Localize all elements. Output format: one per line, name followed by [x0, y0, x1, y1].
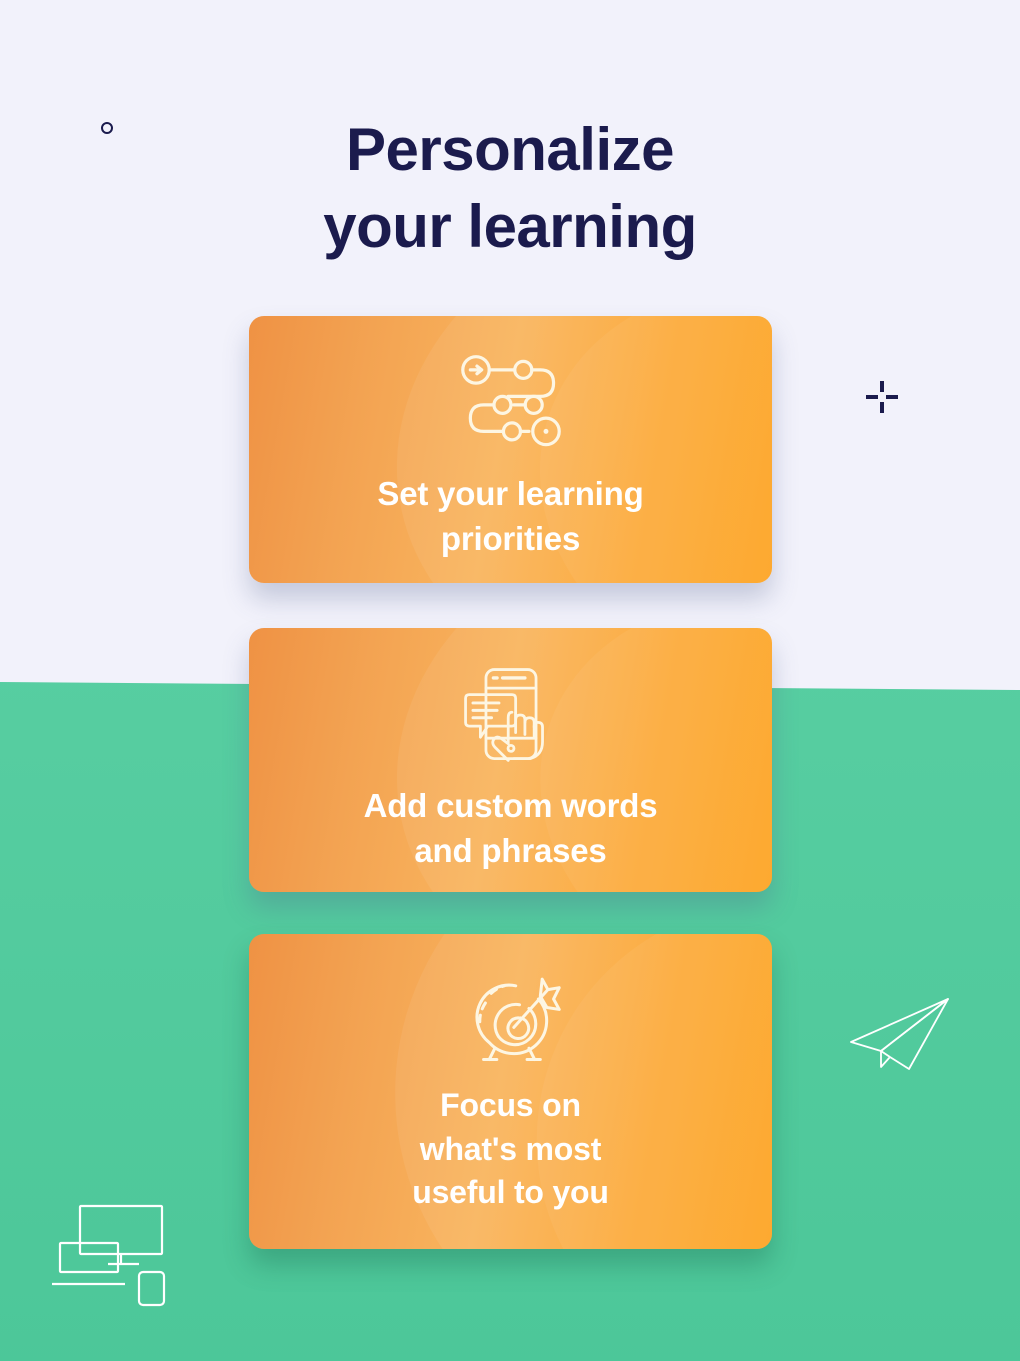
- crosshair-plus-mark: [866, 381, 898, 413]
- phone-tap-message-icon: [452, 660, 570, 770]
- paper-plane-illustration: [845, 995, 955, 1075]
- target-arrow-icon: [452, 962, 570, 1072]
- page-title-line-1: Personalize: [0, 112, 1020, 189]
- card-title-line-1: Focus on: [412, 1084, 609, 1128]
- card-title-line-2: and phrases: [364, 829, 658, 874]
- card-title-line-2: priorities: [377, 517, 643, 562]
- card-title-line-3: useful to you: [412, 1171, 609, 1215]
- onboarding-screen: Personalize your learning: [0, 0, 1020, 1361]
- card-title-line-1: Set your learning: [377, 472, 643, 517]
- learning-path-icon: [452, 348, 570, 458]
- card-title-line-1: Add custom words: [364, 784, 658, 829]
- multi-device-illustration: [47, 1192, 192, 1332]
- feature-card-focus[interactable]: Focus on what's most useful to you: [249, 934, 772, 1249]
- feature-card-custom-words[interactable]: Add custom words and phrases: [249, 628, 772, 892]
- card-title-line-2: what's most: [412, 1128, 609, 1172]
- feature-card-set-priorities[interactable]: Set your learning priorities: [249, 316, 772, 583]
- feature-card-title: Add custom words and phrases: [338, 784, 684, 874]
- feature-card-title: Focus on what's most useful to you: [386, 1084, 635, 1215]
- page-title-line-2: your learning: [0, 189, 1020, 266]
- feature-card-title: Set your learning priorities: [351, 472, 669, 562]
- page-title: Personalize your learning: [0, 112, 1020, 266]
